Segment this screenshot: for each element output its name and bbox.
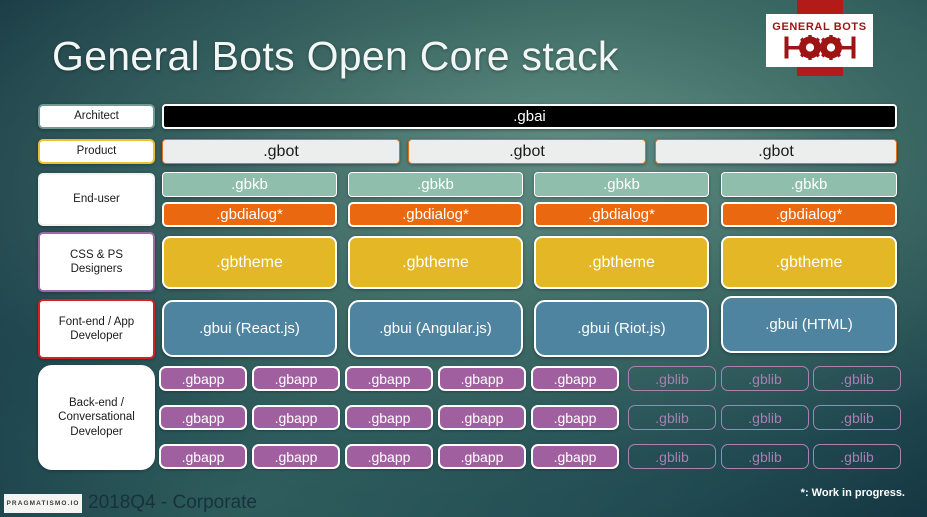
pragmatismo-logo: PRAGMATISMO.IO [4,494,82,513]
layer-gbapp: .gbapp [252,444,340,469]
layer-gblib: .gblib [628,366,716,391]
layer-gblib: .gblib [628,444,716,469]
general-bots-logo: GENERAL BOTS [766,14,873,67]
layer-gbapp: .gbapp [438,405,526,430]
layer-gblib: .gblib [813,366,901,391]
work-in-progress-note: *: Work in progress. [801,487,905,499]
layer-gbapp: .gbapp [345,444,433,469]
layer-gbkb-2: .gbkb [348,172,523,197]
layer-gbtheme-1: .gbtheme [162,236,337,289]
layer-gbapp: .gbapp [438,444,526,469]
layer-gblib: .gblib [813,444,901,469]
layer-gbapp: .gbapp [252,405,340,430]
layer-gbapp: .gbapp [531,405,619,430]
layer-gblib: .gblib [721,405,809,430]
layer-gbapp: .gbapp [345,366,433,391]
pragmatismo-wordmark: PRAGMATISMO.IO [6,500,79,507]
layer-gbapp: .gbapp [159,366,247,391]
layer-gbapp: .gbapp [531,366,619,391]
layer-gblib: .gblib [813,405,901,430]
role-label-architect: Architect [38,104,155,129]
layer-gbkb-4: .gbkb [721,172,897,197]
layer-gbdialog-2: .gbdialog* [348,202,523,227]
role-label-css-ps-designers: CSS & PS Designers [38,232,155,292]
layer-gbui-react: .gbui (React.js) [162,300,337,357]
role-label-frontend-app-developer: Font-end / App Developer [38,299,155,359]
role-label-product: Product [38,139,155,164]
layer-gbdialog-3: .gbdialog* [534,202,709,227]
layer-gbai: .gbai [162,104,897,129]
layer-gbapp: .gbapp [531,444,619,469]
logo-wordmark: GENERAL BOTS [772,22,866,33]
layer-gbapp: .gbapp [159,405,247,430]
layer-gbtheme-4: .gbtheme [721,236,897,289]
layer-gbapp: .gbapp [438,366,526,391]
footer-caption: 2018Q4 - Corporate [88,492,257,514]
role-label-backend-conversational-developer: Back-end / Conversational Developer [38,365,155,470]
layer-gbot-1: .gbot [162,139,400,164]
layer-gbtheme-3: .gbtheme [534,236,709,289]
layer-gbkb-1: .gbkb [162,172,337,197]
layer-gbot-2: .gbot [408,139,646,164]
layer-gbot-3: .gbot [655,139,897,164]
layer-gbui-html: .gbui (HTML) [721,296,897,353]
gears-icon [782,35,858,60]
layer-gblib: .gblib [628,405,716,430]
layer-gbdialog-1: .gbdialog* [162,202,337,227]
layer-gbtheme-2: .gbtheme [348,236,523,289]
role-label-end-user: End-user [38,173,155,226]
slide-canvas: General Bots Open Core stack GENERAL BOT… [0,0,927,517]
layer-gbapp: .gbapp [252,366,340,391]
layer-gblib: .gblib [721,444,809,469]
page-title: General Bots Open Core stack [52,33,619,80]
layer-gbapp: .gbapp [159,444,247,469]
layer-gblib: .gblib [721,366,809,391]
layer-gbapp: .gbapp [345,405,433,430]
layer-gbui-angular: .gbui (Angular.js) [348,300,523,357]
layer-gbui-riot: .gbui (Riot.js) [534,300,709,357]
layer-gbkb-3: .gbkb [534,172,709,197]
layer-gbdialog-4: .gbdialog* [721,202,897,227]
